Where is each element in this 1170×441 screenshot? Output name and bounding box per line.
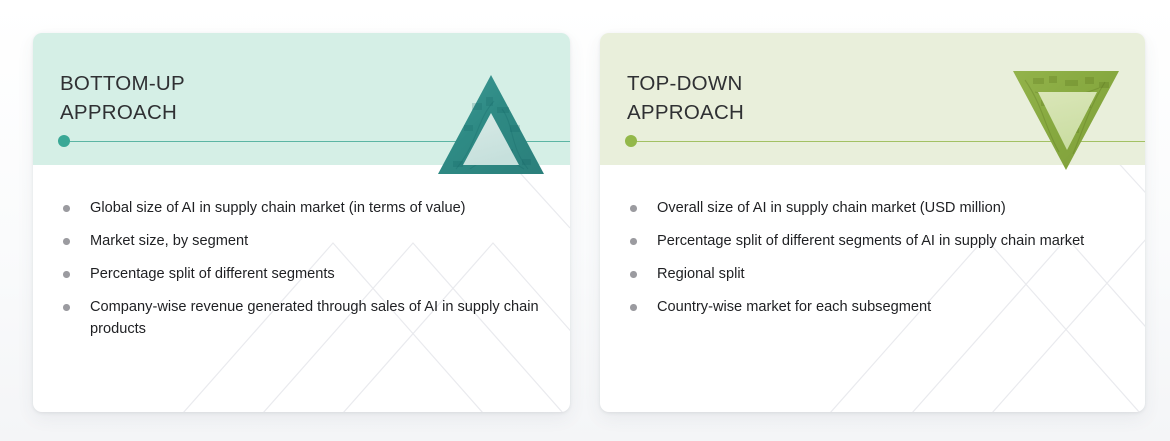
list-item-label: Company-wise revenue generated through s… bbox=[90, 299, 539, 337]
list-item: Regional split bbox=[627, 263, 1095, 285]
bullet-dot-icon bbox=[63, 238, 70, 245]
bullet-dot-icon bbox=[63, 271, 70, 278]
card-header-top-down: TOP-DOWN APPROACH bbox=[600, 33, 1145, 165]
header-connector-line bbox=[58, 135, 570, 147]
connector-dot bbox=[625, 135, 637, 147]
bullet-dot-icon bbox=[630, 238, 637, 245]
card-body-top-down: Overall size of AI in supply chain marke… bbox=[600, 165, 1145, 412]
list-item-label: Percentage split of different segments o… bbox=[657, 233, 1084, 249]
card-top-down-approach: TOP-DOWN APPROACH bbox=[600, 33, 1145, 412]
bullet-dot-icon bbox=[630, 205, 637, 212]
list-item-label: Regional split bbox=[657, 266, 745, 282]
list-item: Market size, by segment bbox=[60, 230, 540, 252]
list-item: Percentage split of different segments o… bbox=[627, 230, 1095, 252]
card-bottom-up-approach: BOTTOM-UP APPROACH bbox=[33, 33, 570, 412]
card-body-bottom-up: Global size of AI in supply chain market… bbox=[33, 165, 570, 412]
bullet-dot-icon bbox=[63, 205, 70, 212]
list-item-label: Overall size of AI in supply chain marke… bbox=[657, 200, 1006, 216]
card-header-bottom-up: BOTTOM-UP APPROACH bbox=[33, 33, 570, 165]
bullet-dot-icon bbox=[63, 304, 70, 311]
list-item-label: Market size, by segment bbox=[90, 233, 248, 249]
list-item: Percentage split of different segments bbox=[60, 263, 540, 285]
bullet-dot-icon bbox=[630, 271, 637, 278]
list-item: Global size of AI in supply chain market… bbox=[60, 197, 540, 219]
bullet-dot-icon bbox=[630, 304, 637, 311]
bullet-list-bottom-up: Global size of AI in supply chain market… bbox=[60, 197, 540, 340]
list-item-label: Global size of AI in supply chain market… bbox=[90, 200, 466, 216]
header-connector-line bbox=[625, 135, 1145, 147]
card-title-top-down: TOP-DOWN APPROACH bbox=[627, 69, 1145, 127]
list-item: Country-wise market for each subsegment bbox=[627, 296, 1095, 318]
list-item-label: Percentage split of different segments bbox=[90, 266, 335, 282]
connector-rule bbox=[64, 141, 570, 142]
connector-dot bbox=[58, 135, 70, 147]
connector-rule bbox=[631, 141, 1145, 142]
list-item: Overall size of AI in supply chain marke… bbox=[627, 197, 1095, 219]
list-item-label: Country-wise market for each subsegment bbox=[657, 299, 931, 315]
bullet-list-top-down: Overall size of AI in supply chain marke… bbox=[627, 197, 1115, 318]
card-title-bottom-up: BOTTOM-UP APPROACH bbox=[60, 69, 570, 127]
list-item: Company-wise revenue generated through s… bbox=[60, 296, 540, 340]
approach-cards-container: BOTTOM-UP APPROACH bbox=[0, 0, 1170, 441]
